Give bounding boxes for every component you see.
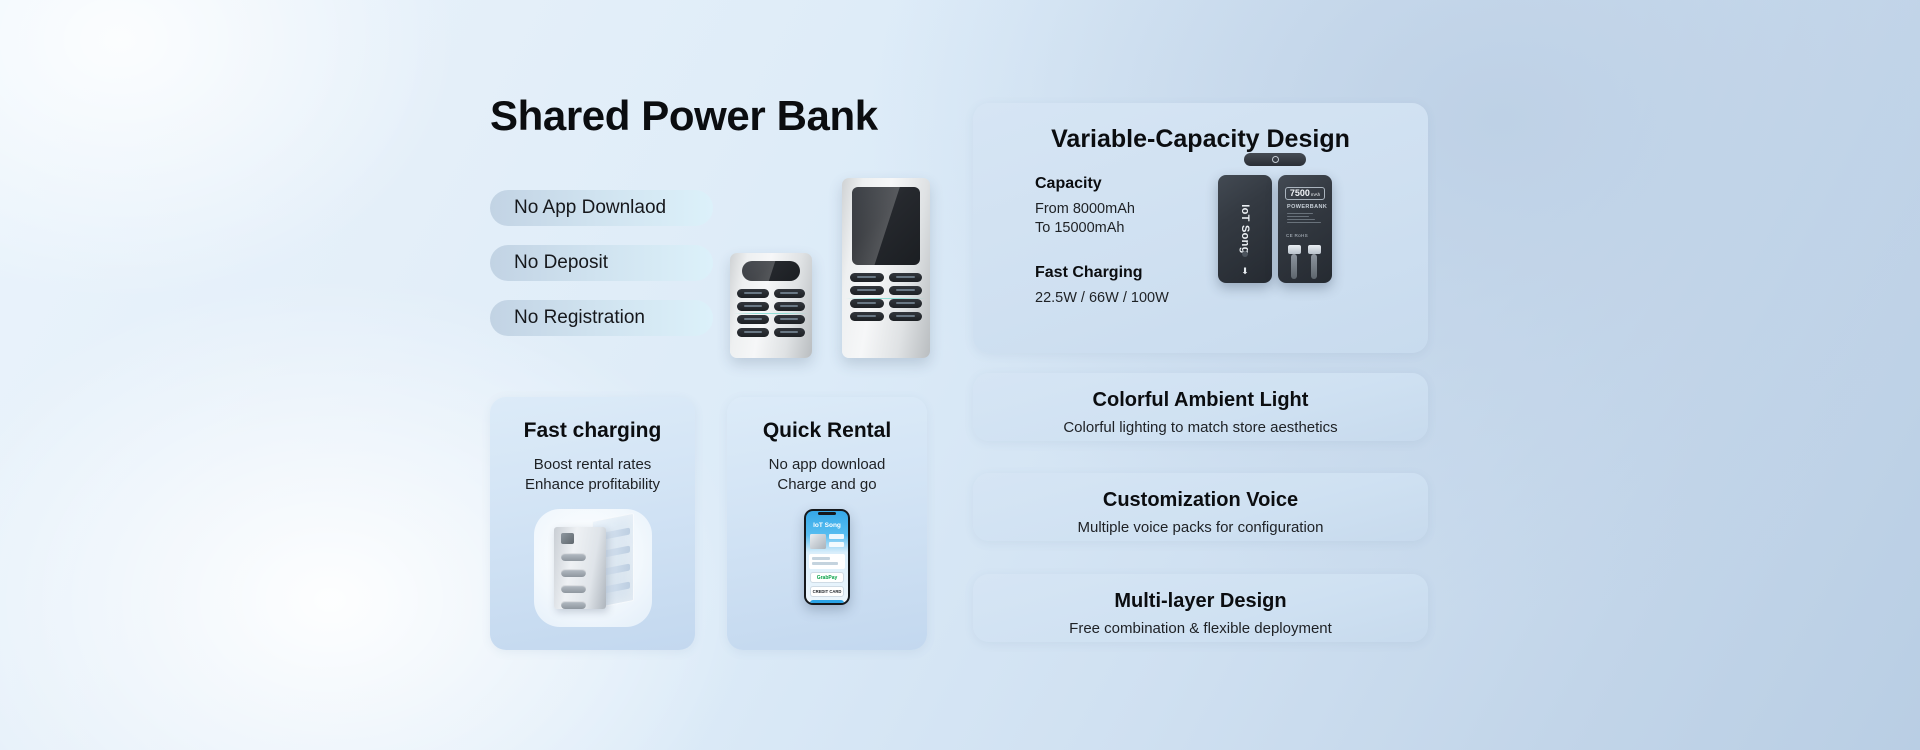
station-screen-icon <box>852 187 920 265</box>
capacity-values: From 8000mAh To 15000mAh <box>1035 200 1169 238</box>
power-bank-spec-lines <box>1287 213 1321 223</box>
power-bank-capacity-number: 7500 <box>1290 188 1310 198</box>
station-slot <box>889 312 923 321</box>
station-slot <box>889 299 923 308</box>
app-confirm-button[interactable] <box>810 600 844 603</box>
list-card-subtitle: Free combination & flexible deployment <box>973 620 1428 637</box>
benefit-pill-label: No Registration <box>514 307 645 329</box>
capacity-heading: Capacity <box>1035 175 1169 193</box>
feature-card-subtitle: No app download Charge and go <box>727 455 927 496</box>
benefit-pill-no-app-download[interactable]: No App Downlaod <box>490 190 713 226</box>
spec-card-title: Variable-Capacity Design <box>973 125 1428 154</box>
station-slot <box>850 299 884 308</box>
app-brand-label: IoT Song <box>806 522 848 529</box>
app-billing-section <box>809 554 845 569</box>
feature-card-line1: No app download <box>769 456 886 473</box>
benefit-pill-label: No App Downlaod <box>514 197 666 219</box>
station-slot <box>737 328 769 337</box>
power-bank-certification-label: CE RoHS <box>1286 233 1308 238</box>
list-card-colorful-ambient-light[interactable]: Colorful Ambient Light Colorful lighting… <box>973 373 1428 441</box>
station-divider <box>734 313 808 314</box>
power-bank-capacity-unit: mAh <box>1311 192 1320 197</box>
list-card-title: Customization Voice <box>973 489 1428 512</box>
power-bank-arrow-icon: ⬇ <box>1241 266 1249 277</box>
benefit-pill-no-deposit[interactable]: No Deposit <box>490 245 713 281</box>
station-slot <box>774 289 806 298</box>
station-slot <box>850 273 884 282</box>
spec-card-variable-capacity[interactable]: Variable-Capacity Design Capacity From 8… <box>973 103 1428 353</box>
power-bank-back-unit: 7500 mAh POWERBANK CE RoHS <box>1278 175 1332 283</box>
list-card-title: Colorful Ambient Light <box>973 389 1428 412</box>
app-station-thumbnail <box>810 534 826 549</box>
charging-cabinet-icon <box>534 509 652 627</box>
station-slot <box>737 302 769 311</box>
station-slot <box>774 302 806 311</box>
station-slot <box>774 315 806 324</box>
list-card-multi-layer-design[interactable]: Multi-layer Design Free combination & fl… <box>973 574 1428 642</box>
power-bank-cap-hole-icon <box>1272 156 1279 163</box>
fast-charging-heading: Fast Charging <box>1035 264 1169 282</box>
list-card-customization-voice[interactable]: Customization Voice Multiple voice packs… <box>973 473 1428 541</box>
power-bank-product-label: POWERBANK <box>1287 204 1327 210</box>
list-card-title: Multi-layer Design <box>973 590 1428 613</box>
station-slot <box>737 315 769 324</box>
station-screen-icon <box>742 261 800 281</box>
station-slot <box>889 273 923 282</box>
list-card-subtitle: Colorful lighting to match store aesthet… <box>973 419 1428 436</box>
station-slot <box>850 312 884 321</box>
page-title: Shared Power Bank <box>490 92 878 140</box>
power-bank-capacity-badge: 7500 mAh <box>1285 187 1325 200</box>
power-bank-indicator-icon <box>1242 251 1248 257</box>
payment-option-grabpay[interactable]: GrabPay <box>810 572 844 583</box>
payment-option-label: CREDIT CARD <box>813 589 842 594</box>
poster-canvas: Shared Power Bank No App Downlaod No Dep… <box>0 0 1920 750</box>
power-bank-cables-icon <box>1286 245 1322 279</box>
feature-card-line1: Boost rental rates <box>534 456 652 473</box>
station-divider <box>846 298 926 299</box>
capacity-from: From 8000mAh <box>1035 201 1135 217</box>
feature-card-quick-rental[interactable]: Quick Rental No app download Charge and … <box>727 397 927 650</box>
power-bank-brand-label: IoT Song <box>1239 204 1251 253</box>
power-bank-cap-icon <box>1244 153 1306 166</box>
power-bank-product-icon: IoT Song ⬇ 7500 mAh POWERBANK CE RoHS <box>1216 153 1341 288</box>
phone-notch-icon <box>818 512 836 515</box>
charging-station-illustration <box>730 178 940 358</box>
feature-card-fast-charging[interactable]: Fast charging Boost rental rates Enhance… <box>490 397 695 650</box>
station-slot <box>889 286 923 295</box>
spec-card-body: Capacity From 8000mAh To 15000mAh Fast C… <box>1035 175 1169 308</box>
compact-charging-station-icon <box>730 253 812 358</box>
power-bank-front-unit: IoT Song ⬇ <box>1218 175 1272 283</box>
fast-charging-values: 22.5W / 66W / 100W <box>1035 289 1169 308</box>
station-slot <box>774 328 806 337</box>
feature-card-subtitle: Boost rental rates Enhance profitability <box>490 455 695 496</box>
capacity-to: To 15000mAh <box>1035 220 1124 236</box>
feature-card-title: Fast charging <box>490 419 695 443</box>
feature-card-line2: Enhance profitability <box>525 476 660 493</box>
benefit-pill-no-registration[interactable]: No Registration <box>490 300 713 336</box>
benefit-pill-list: No App Downlaod No Deposit No Registrati… <box>490 190 713 336</box>
tall-charging-station-icon <box>842 178 930 358</box>
station-slot <box>737 289 769 298</box>
station-slot <box>850 286 884 295</box>
station-slot-grid <box>850 273 922 321</box>
payment-option-label: GrabPay <box>817 575 838 581</box>
feature-card-title: Quick Rental <box>727 419 927 443</box>
list-card-subtitle: Multiple voice packs for configuration <box>973 519 1428 536</box>
benefit-pill-label: No Deposit <box>514 252 608 274</box>
feature-card-line2: Charge and go <box>777 476 876 493</box>
payment-option-credit-card[interactable]: CREDIT CARD <box>810 586 844 597</box>
smartphone-app-icon: IoT Song GrabPay <box>804 509 850 605</box>
